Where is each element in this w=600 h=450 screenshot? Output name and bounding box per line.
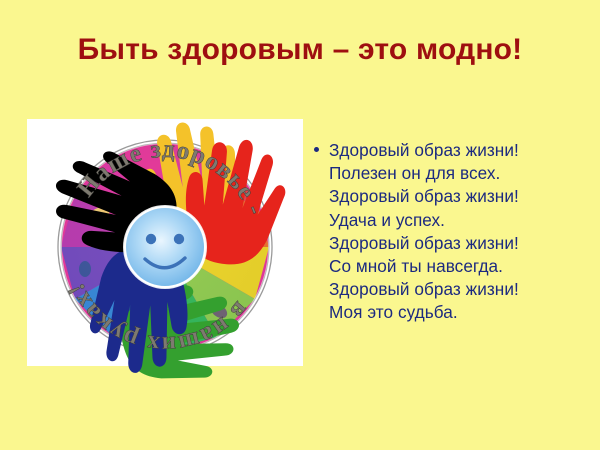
poem-text: Здоровый образ жизни! Полезен он для все…: [329, 139, 593, 325]
rainbow-disc-handprints-illustration: Наше здоровье - в наших руках!: [27, 119, 303, 366]
smiley-eye-left: [146, 234, 156, 244]
content-placeholder: Здоровый образ жизни! Полезен он для все…: [311, 139, 593, 325]
smiley-eye-right: [174, 234, 184, 244]
presentation-slide: Быть здоровым – это модно!: [0, 0, 600, 450]
smiley-face: [123, 205, 207, 289]
slide-title: Быть здоровым – это модно!: [0, 33, 600, 67]
bullet-icon: [311, 139, 329, 162]
paint-speck: [79, 261, 91, 277]
picture-placeholder[interactable]: Наше здоровье - в наших руках!: [27, 119, 303, 366]
list-item: Здоровый образ жизни! Полезен он для все…: [311, 139, 593, 325]
